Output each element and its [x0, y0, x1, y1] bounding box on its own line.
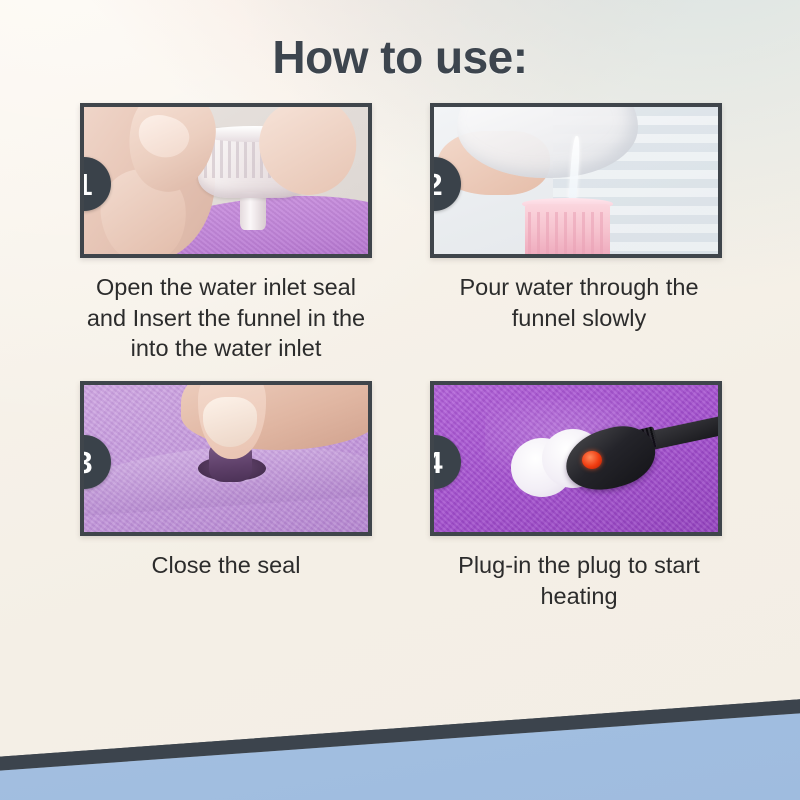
- step-4-photo: 4: [430, 381, 722, 536]
- step-4: 4 Plug-in the plug to start heating: [430, 381, 744, 611]
- funnel-insert-illustration: [84, 107, 368, 254]
- step-2: 2 Pour water through the funnel slowly: [430, 103, 744, 333]
- step-4-caption: Plug-in the plug to start heating: [414, 550, 744, 611]
- step-1: 1 Open the water inlet seal and Insert t…: [80, 103, 391, 364]
- content-layer: How to use: 1 Open the water inlet seal …: [0, 0, 800, 800]
- step-1-caption: Open the water inlet seal and Insert the…: [61, 272, 391, 364]
- step-3: 3 Close the seal: [80, 381, 391, 581]
- page-title: How to use:: [0, 30, 800, 84]
- pour-water-illustration: [434, 107, 718, 254]
- step-3-caption: Close the seal: [61, 550, 391, 581]
- pink-funnel: [525, 204, 610, 254]
- step-2-photo: 2: [430, 103, 722, 258]
- close-seal-illustration: [84, 385, 368, 532]
- step-1-photo: 1: [80, 103, 372, 258]
- step-3-photo: 3: [80, 381, 372, 536]
- power-led-icon: [582, 451, 602, 469]
- infographic-stage: How to use: 1 Open the water inlet seal …: [0, 0, 800, 800]
- plug-in-illustration: [434, 385, 718, 532]
- step-2-caption: Pour water through the funnel slowly: [414, 272, 744, 333]
